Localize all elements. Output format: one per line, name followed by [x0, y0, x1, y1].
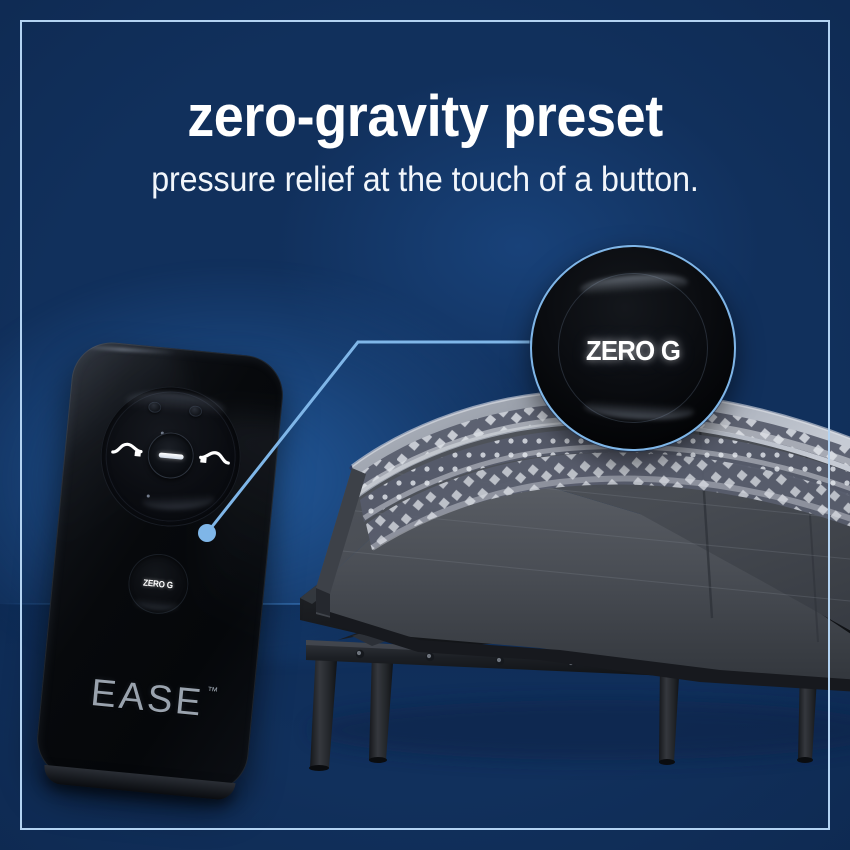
headline-block: zero-gravity preset pressure relief at t… [0, 88, 850, 197]
promo-canvas: ZERO G EASE™ ZERO G zero-gravity preset … [0, 0, 850, 850]
page-subtitle: pressure relief at the touch of a button… [34, 162, 816, 197]
callout-zero-g-label: ZERO G [540, 335, 726, 367]
trademark-icon: ™ [206, 685, 218, 698]
zero-g-magnified-callout: ZERO G [530, 245, 736, 451]
page-title: zero-gravity preset [30, 88, 821, 146]
ease-remote-control[interactable]: ZERO G EASE™ [33, 339, 286, 795]
zero-g-button-highlight [134, 596, 179, 612]
foot-incline-icon[interactable] [198, 445, 232, 470]
head-incline-icon[interactable] [110, 437, 144, 462]
flat-position-icon [158, 452, 183, 459]
zero-g-button-label: ZERO G [143, 578, 174, 591]
remote-body: ZERO G EASE™ [33, 339, 286, 795]
ease-brand-text: EASE™ [89, 672, 206, 726]
